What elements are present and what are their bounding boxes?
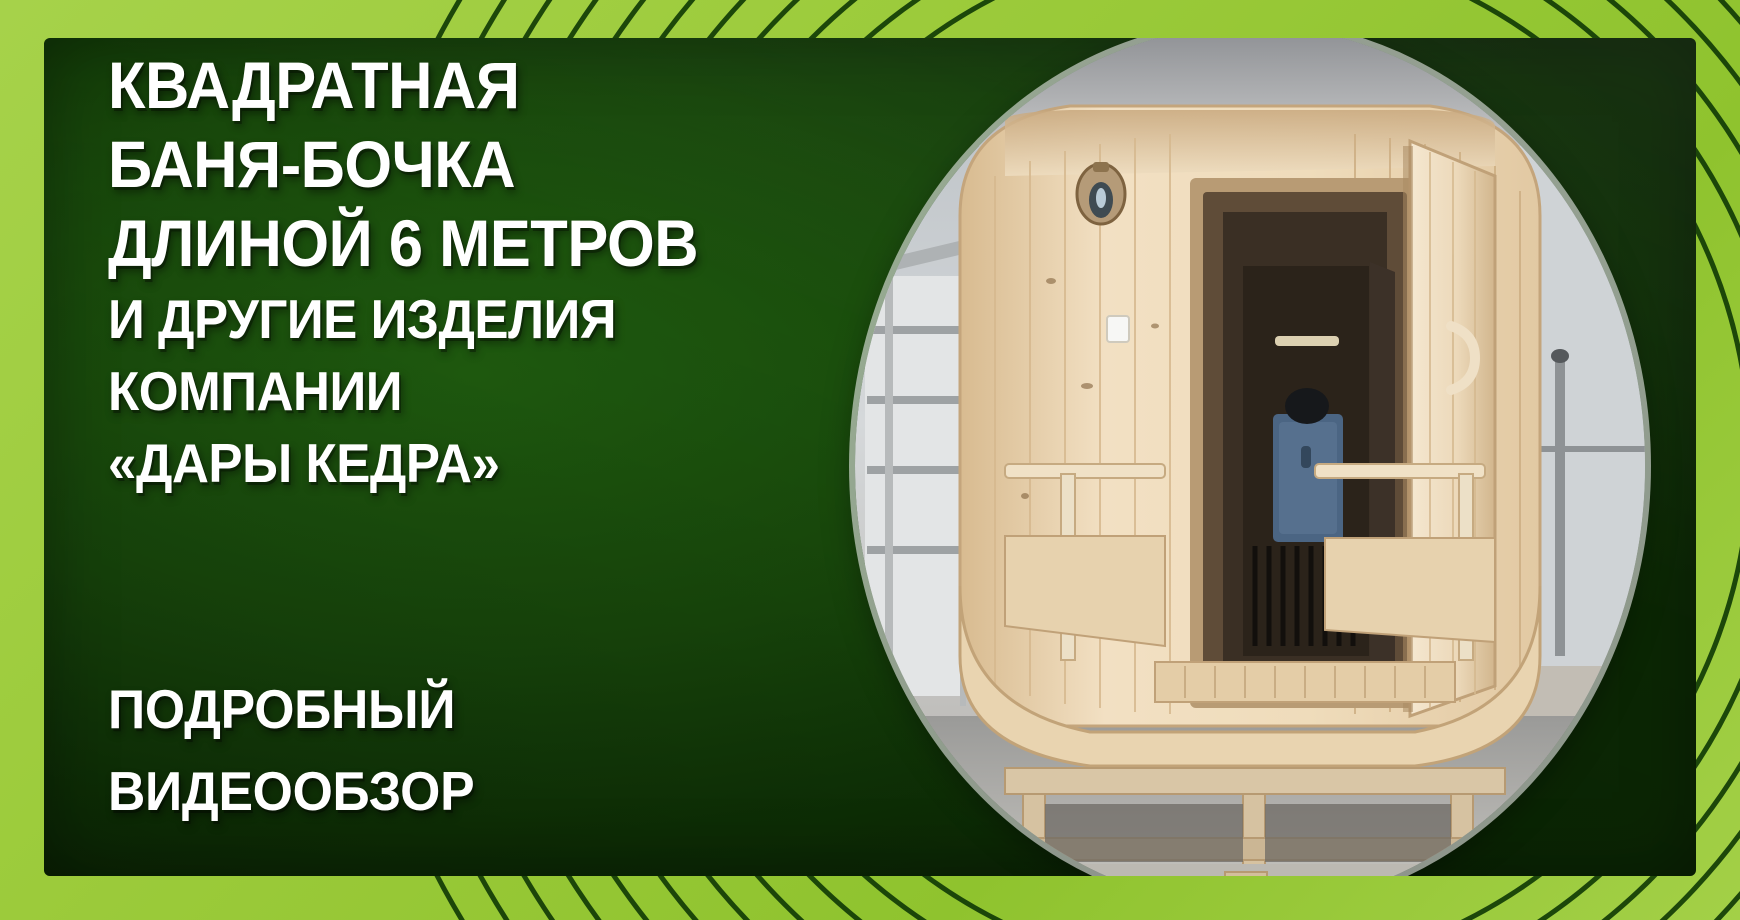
headline-block: КВАДРАТНАЯ БАНЯ-БОЧКА ДЛИНОЙ 6 МЕТРОВ И … <box>108 46 848 499</box>
headline-line-2: БАНЯ-БОЧКА <box>108 125 796 204</box>
headline-line-5: КОМПАНИИ <box>108 355 796 427</box>
headline-line-1: КВАДРАТНАЯ <box>108 46 796 125</box>
promo-banner: КВАДРАТНАЯ БАНЯ-БОЧКА ДЛИНОЙ 6 МЕТРОВ И … <box>0 0 1740 920</box>
cta-line-2: ВИДЕООБЗОР <box>108 750 804 832</box>
wall-lamp-shape <box>1077 162 1125 224</box>
cta-block: ПОДРОБНЫЙ ВИДЕООБЗОР <box>108 668 848 832</box>
content-panel: КВАДРАТНАЯ БАНЯ-БОЧКА ДЛИНОЙ 6 МЕТРОВ И … <box>44 38 1696 876</box>
headline-line-6: «ДАРЫ КЕДРА» <box>108 427 796 499</box>
product-photo <box>855 38 1645 876</box>
headline-line-3: ДЛИНОЙ 6 МЕТРОВ <box>108 204 796 283</box>
sauna-photo-image <box>855 38 1645 876</box>
cta-line-1: ПОДРОБНЫЙ <box>108 668 804 750</box>
headline-line-4: И ДРУГИЕ ИЗДЕЛИЯ <box>108 283 796 355</box>
